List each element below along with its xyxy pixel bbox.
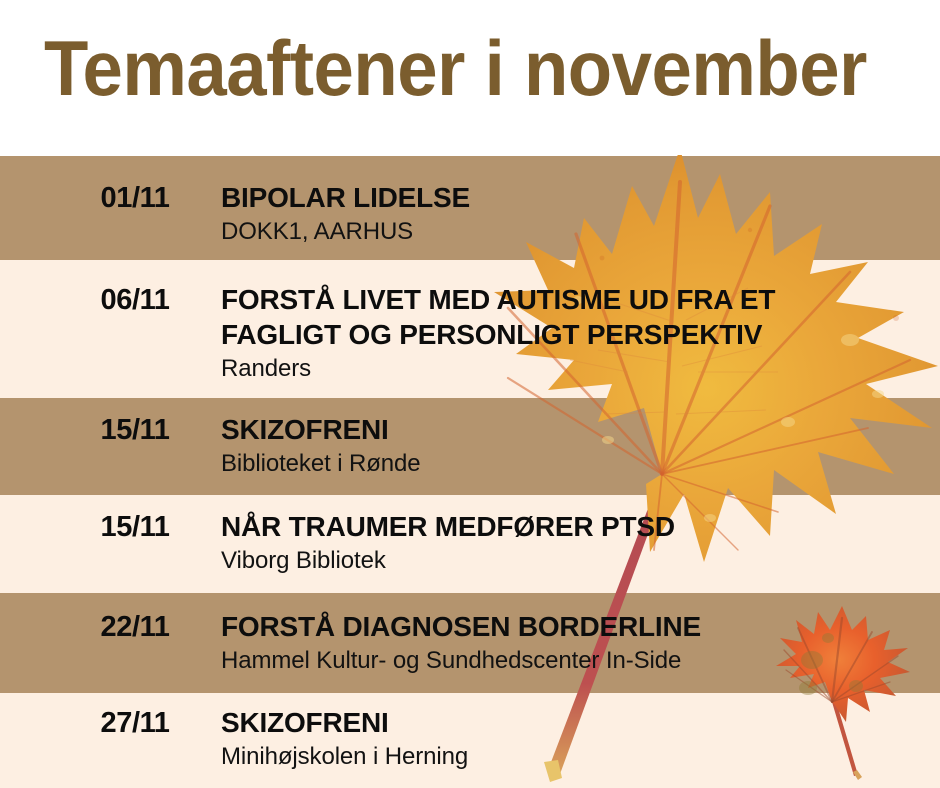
page-title: Temaaftener i november	[44, 26, 867, 110]
title-band: Temaaftener i november	[0, 0, 940, 155]
event-band-6	[0, 693, 940, 788]
event-band-1	[0, 156, 940, 260]
event-band-3	[0, 398, 940, 495]
event-band-5	[0, 593, 940, 693]
poster-canvas: Temaaftener i november 01/11 BIPOLAR LID…	[0, 0, 940, 788]
event-band-4	[0, 495, 940, 593]
event-band-2	[0, 260, 940, 398]
